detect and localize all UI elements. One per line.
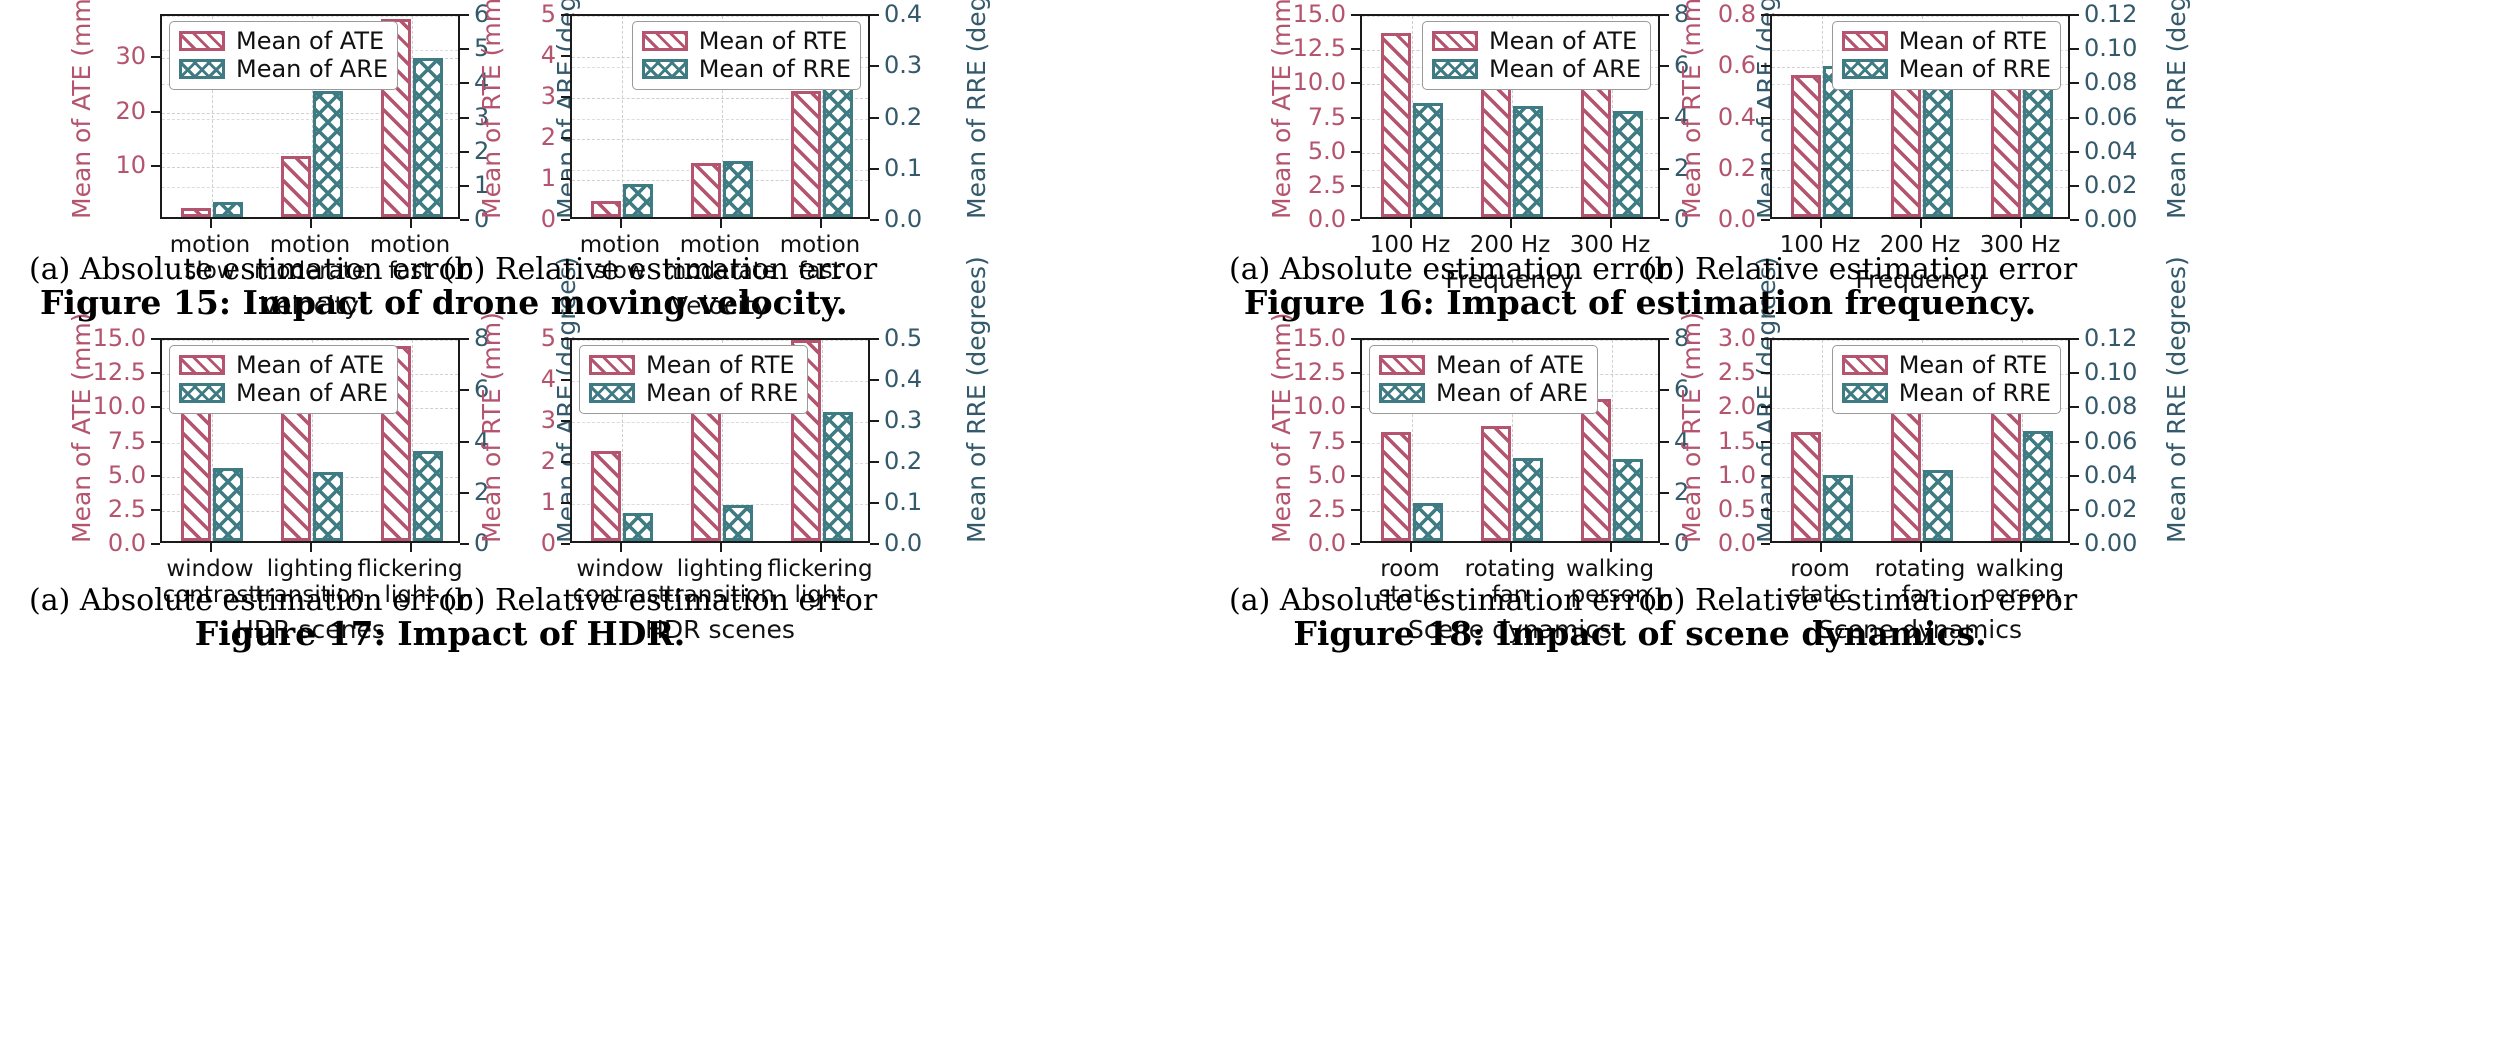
y-tick-label-right: 0.2 [884,105,922,129]
y-tick-label-right: 0.08 [2084,394,2137,418]
y-tick-mark-right [870,65,879,67]
legend-row: Mean of ARE [1432,55,1641,83]
legend-swatch-secondary-icon [642,59,688,79]
gridline-h-right [572,16,868,17]
x-tick-mark [210,543,212,552]
bar-ate [691,408,721,541]
legend-swatch-primary-icon [1842,31,1888,51]
y-tick-mark-left [151,406,160,408]
y-tick-mark-left [1351,82,1360,84]
legend-swatch-secondary-icon [1379,383,1425,403]
gridline-h-right [162,16,458,17]
y-tick-mark-left [151,475,160,477]
y-tick-mark-right [2070,48,2079,50]
x-tick-mark [310,219,312,228]
y-tick-mark-left [561,461,570,463]
y-axis-title-left: Mean of ATE (mm) [67,313,96,544]
y-axis-title-left: Mean of RTE (mm) [1677,312,1706,543]
bar-are [623,184,653,217]
legend-label: Mean of ARE [236,379,388,407]
x-tick-mark [720,543,722,552]
legend-swatch-primary-icon [642,31,688,51]
subcaption-b: (b) Relative estimation error [435,583,885,618]
bar-are [723,161,753,217]
y-tick-mark-left [1351,338,1360,340]
y-tick-label-right: 0.04 [2084,463,2137,487]
y-tick-label-right: 0.12 [2084,326,2137,350]
x-tick-mark [2020,543,2022,552]
y-tick-mark-left [151,165,160,167]
bar-ate [1891,411,1921,541]
subcaption-b: (b) Relative estimation error [1635,583,2085,618]
legend-swatch-secondary-icon [179,383,225,403]
chart-legend[interactable]: Mean of RTEMean of RRE [1832,345,2061,414]
y-tick-mark-left [1351,151,1360,153]
x-tick-mark [310,543,312,552]
legend-label: Mean of RTE [1899,351,2048,379]
bar-ate [691,163,721,217]
y-tick-label-right: 0.4 [884,2,922,26]
y-tick-mark-left [561,502,570,504]
legend-row: Mean of RRE [1842,379,2051,407]
legend-swatch-primary-icon [589,355,635,375]
x-tick-mark [2020,219,2022,228]
y-tick-mark-right [2070,509,2079,511]
subcaption-a: (a) Absolute estimation error [25,252,475,287]
x-tick-mark [210,219,212,228]
chart-legend[interactable]: Mean of RTEMean of RRE [579,345,808,414]
legend-swatch-secondary-icon [1842,59,1888,79]
x-tick-mark [410,219,412,228]
legend-swatch-primary-icon [179,355,225,375]
legend-swatch-primary-icon [1432,31,1478,51]
legend-swatch-secondary-icon [179,59,225,79]
bar-are [1413,103,1443,217]
legend-label: Mean of RTE [699,27,848,55]
y-tick-mark-right [870,14,879,16]
y-tick-mark-right [870,168,879,170]
y-tick-mark-left [1351,475,1360,477]
x-tick-mark [1510,543,1512,552]
legend-swatch-primary-icon [1842,355,1888,375]
bar-ate [1481,426,1511,541]
bar-are [1513,458,1543,541]
bar-ate [281,156,311,217]
y-tick-mark-left [151,509,160,511]
x-tick-mark [620,543,622,552]
figure-caption-fig17: Figure 17: Impact of HDR. [40,614,840,653]
x-tick-mark [1510,219,1512,228]
legend-label: Mean of ATE [1436,351,1584,379]
y-tick-mark-left [1351,14,1360,16]
legend-label: Mean of ATE [1489,27,1637,55]
y-tick-mark-left [1761,14,1770,16]
bar-ate [1381,432,1411,541]
y-axis-title-left: Mean of RTE (mm) [477,0,506,219]
legend-row: Mean of ARE [1379,379,1588,407]
y-tick-mark-left [1351,372,1360,374]
y-tick-label-right: 0.2 [884,449,922,473]
y-tick-label-right: 0.02 [2084,173,2137,197]
bar-ate [181,208,211,217]
bar-are [2023,85,2053,217]
x-tick-line: flickering [767,556,872,582]
subcaption-a: (a) Absolute estimation error [25,583,475,618]
figure-page: 1020300123456motionslowmotionmoderatemot… [0,0,2508,1052]
y-tick-mark-left [1351,117,1360,119]
y-tick-mark-right [870,338,879,340]
y-tick-mark-right [870,219,879,221]
y-tick-mark-left [561,96,570,98]
y-tick-mark-left [1351,185,1360,187]
y-tick-label-right: 0.10 [2084,36,2137,60]
legend-swatch-secondary-icon [1432,59,1478,79]
y-tick-label-right: 0.06 [2084,105,2137,129]
y-tick-label-right: 0.0 [884,531,922,555]
bar-ate [1991,398,2021,542]
y-tick-mark-left [1351,509,1360,511]
x-tick-mark [1410,543,1412,552]
y-axis-title-right: Mean of RRE (degrees) [2162,0,2191,219]
legend-row: Mean of ARE [179,379,388,407]
bar-are [1513,106,1543,217]
y-tick-mark-left [1761,441,1770,443]
chart-legend[interactable]: Mean of RTEMean of RRE [1832,21,2061,90]
gridline-h-right [1362,340,1658,341]
y-tick-mark-left [1761,372,1770,374]
y-axis-title-right: Mean of RRE (degrees) [2162,256,2191,543]
bar-are [313,91,343,217]
y-tick-mark-right [870,502,879,504]
bar-are [313,472,343,541]
y-tick-mark-left [1761,475,1770,477]
y-tick-mark-right [870,379,879,381]
chart-legend[interactable]: Mean of ATEMean of ARE [169,345,398,414]
legend-label: Mean of ARE [236,55,388,83]
bar-are [213,202,243,217]
y-tick-mark-left [1351,543,1360,545]
y-tick-mark-right [2070,441,2079,443]
chart-legend[interactable]: Mean of RTEMean of RRE [632,21,861,90]
x-tick-mark [410,543,412,552]
x-tick-mark [1820,543,1822,552]
x-tick-mark [1610,219,1612,228]
y-axis-title-right: Mean of RRE (degrees) [962,256,991,543]
y-tick-mark-right [2070,475,2079,477]
x-tick-mark [1920,219,1922,228]
bar-are [823,412,853,541]
y-tick-mark-left [1351,48,1360,50]
bar-are [1823,475,1853,541]
y-tick-label-right: 0.10 [2084,360,2137,384]
legend-row: Mean of ATE [1379,351,1588,379]
chart-legend[interactable]: Mean of ATEMean of ARE [1369,345,1598,414]
subcaption-b: (b) Relative estimation error [435,252,885,287]
legend-label: Mean of RRE [699,55,851,83]
y-tick-mark-left [561,137,570,139]
y-axis-title-left: Mean of RTE (mm) [477,312,506,543]
y-tick-mark-left [151,441,160,443]
y-tick-mark-right [2070,82,2079,84]
bar-are [723,505,753,541]
y-tick-mark-left [1761,65,1770,67]
y-tick-mark-right [870,543,879,545]
figure-caption-fig18: Figure 18: Impact of scene dynamics. [1240,614,2040,653]
legend-row: Mean of RRE [589,379,798,407]
y-tick-mark-right [870,461,879,463]
bar-ate [1381,33,1411,218]
y-tick-mark-left [1351,406,1360,408]
bar-are [1413,503,1443,541]
legend-row: Mean of RTE [642,27,851,55]
y-axis-title-left: Mean of ATE (mm) [1267,0,1296,219]
y-axis-title-right: Mean of RRE (degrees) [962,0,991,219]
x-tick-mark [720,219,722,228]
legend-row: Mean of ATE [179,27,388,55]
gridline-h-right [162,340,458,341]
x-tick-mark [620,219,622,228]
legend-swatch-primary-icon [179,31,225,51]
y-tick-mark-right [870,420,879,422]
legend-label: Mean of ARE [1436,379,1588,407]
y-axis-title-left: Mean of ATE (mm) [67,0,96,219]
y-tick-mark-left [151,372,160,374]
bar-ate [181,410,211,541]
x-tick-mark [1920,543,1922,552]
bar-ate [591,201,621,217]
y-tick-mark-left [151,111,160,113]
y-tick-mark-left [561,14,570,16]
y-tick-label-right: 0.06 [2084,429,2137,453]
legend-row: Mean of RRE [1842,55,2051,83]
chart-legend[interactable]: Mean of ATEMean of ARE [169,21,398,90]
legend-label: Mean of ATE [236,351,384,379]
gridline-h-right [1362,16,1658,17]
y-tick-mark-left [1351,219,1360,221]
y-tick-mark-left [151,543,160,545]
y-tick-mark-left [561,55,570,57]
y-tick-mark-right [2070,151,2079,153]
y-tick-mark-left [151,56,160,58]
bar-are [1923,470,1953,541]
y-tick-mark-right [2070,219,2079,221]
y-tick-mark-left [561,543,570,545]
y-tick-mark-left [1761,543,1770,545]
legend-row: Mean of RRE [642,55,851,83]
x-tick-mark [1820,219,1822,228]
legend-label: Mean of RTE [646,351,795,379]
legend-row: Mean of ARE [179,55,388,83]
x-tick-line: walking [1566,556,1654,582]
legend-label: Mean of RTE [1899,27,2048,55]
y-tick-mark-left [1761,509,1770,511]
legend-label: Mean of ARE [1489,55,1641,83]
x-tick-line: flickering [357,556,462,582]
y-tick-mark-right [870,117,879,119]
bar-are [1923,81,1953,217]
y-tick-mark-right [2070,338,2079,340]
gridline-h-right [1772,16,2068,17]
y-tick-mark-left [1761,338,1770,340]
legend-row: Mean of RTE [1842,27,2051,55]
y-tick-mark-right [2070,543,2079,545]
x-tick-mark [1610,543,1612,552]
y-tick-mark-left [561,379,570,381]
y-tick-label-right: 0.5 [884,326,922,350]
figure-caption-fig16: Figure 16: Impact of estimation frequenc… [1240,283,2040,322]
x-tick-mark [820,543,822,552]
legend-swatch-secondary-icon [1842,383,1888,403]
bar-ate [591,451,621,541]
y-tick-label-right: 0.04 [2084,139,2137,163]
bar-ate [791,91,821,217]
bar-ate [1991,81,2021,217]
y-tick-mark-left [1761,168,1770,170]
y-tick-mark-left [1761,406,1770,408]
chart-legend[interactable]: Mean of ATEMean of ARE [1422,21,1651,90]
legend-label: Mean of RRE [1899,55,2051,83]
y-tick-label-right: 0.4 [884,367,922,391]
y-tick-label-right: 0.1 [884,156,922,180]
y-tick-mark-right [2070,372,2079,374]
subcaption-b: (b) Relative estimation error [1635,252,2085,287]
y-tick-mark-right [2070,406,2079,408]
legend-label: Mean of ATE [236,27,384,55]
bar-are [213,468,243,541]
y-tick-mark-left [561,219,570,221]
bar-ate [1891,82,1921,217]
y-tick-mark-right [2070,117,2079,119]
x-tick-mark [820,219,822,228]
bar-are [823,81,853,217]
y-tick-mark-left [561,178,570,180]
bar-are [623,513,653,541]
y-tick-mark-left [1351,441,1360,443]
x-tick-line: walking [1976,556,2064,582]
y-tick-label-right: 0.00 [2084,531,2137,555]
bar-ate [1791,75,1821,217]
y-tick-label-right: 0.3 [884,53,922,77]
bar-ate [1791,432,1821,541]
y-axis-title-left: Mean of ATE (mm) [1267,313,1296,544]
bar-are [2023,431,2053,541]
y-tick-label-right: 0.12 [2084,2,2137,26]
legend-label: Mean of RRE [1899,379,2051,407]
y-tick-label-right: 0.08 [2084,70,2137,94]
subcaption-a: (a) Absolute estimation error [1225,583,1675,618]
y-tick-label-right: 0.02 [2084,497,2137,521]
y-tick-mark-left [151,338,160,340]
legend-row: Mean of RTE [1842,351,2051,379]
y-tick-mark-right [2070,185,2079,187]
y-tick-mark-left [561,338,570,340]
figure-caption-fig15: Figure 15: Impact of drone moving veloci… [40,283,840,322]
y-tick-label-right: 0.1 [884,490,922,514]
legend-swatch-secondary-icon [589,383,635,403]
y-tick-label-right: 0.0 [884,207,922,231]
subcaption-a: (a) Absolute estimation error [1225,252,1675,287]
y-tick-label-right: 0.00 [2084,207,2137,231]
y-tick-mark-left [1761,219,1770,221]
gridline-h-right [1772,340,2068,341]
x-tick-mark [1410,219,1412,228]
legend-row: Mean of ATE [1432,27,1641,55]
gridline-h-right [572,340,868,341]
y-tick-mark-left [1761,117,1770,119]
legend-row: Mean of ATE [179,351,388,379]
y-tick-mark-right [2070,14,2079,16]
legend-row: Mean of RTE [589,351,798,379]
y-tick-label-right: 0.3 [884,408,922,432]
y-tick-mark-left [561,420,570,422]
legend-label: Mean of RRE [646,379,798,407]
bar-ate [1581,399,1611,541]
legend-swatch-primary-icon [1379,355,1425,375]
y-axis-title-left: Mean of RTE (mm) [1677,0,1706,219]
